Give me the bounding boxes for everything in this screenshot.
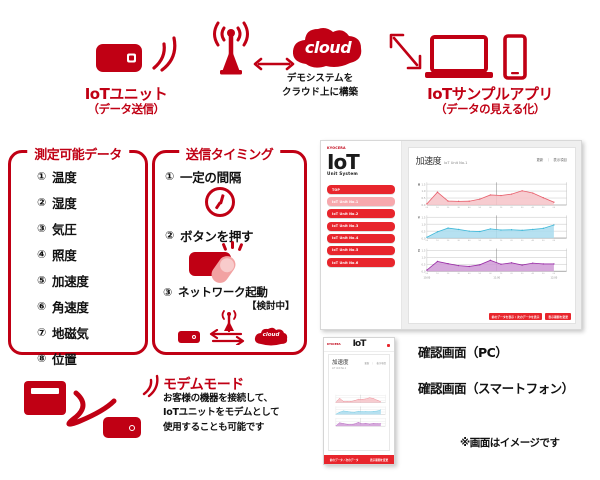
pc-app-sidebar: KYOCERA IoT Unit System TOP IoT Unit No.… — [321, 141, 402, 329]
svg-text:10:00: 10:00 — [423, 276, 430, 279]
svg-text:00: 00 — [489, 273, 492, 275]
svg-text:20: 20 — [510, 240, 513, 242]
svg-text:40: 40 — [531, 207, 534, 209]
card-action-bar: 前のデータを表示 / 次のデータを表示 表示期間を変更 — [489, 313, 571, 320]
item-number: ① — [37, 170, 46, 183]
item-number: ⑧ — [37, 352, 46, 365]
svg-text:40: 40 — [468, 240, 471, 242]
card-subtitle: IoT Unit No.1 — [444, 161, 467, 165]
exchange-arrows-icon — [207, 329, 247, 345]
nav-item-unit-2[interactable]: IoT Unit No.2 — [327, 209, 395, 218]
item-label: 角速度 — [52, 297, 89, 316]
svg-text:10: 10 — [436, 207, 439, 209]
phone-app-header: KYOCERA IoT — [324, 338, 394, 352]
list-item: ⑦地磁気 — [37, 323, 145, 342]
item-label: 加速度 — [52, 271, 89, 290]
modem-mode-description: お客様の機器を接続して、 IoTユニットをモデムとして 使用することも可能です — [163, 392, 313, 435]
svg-text:50: 50 — [542, 240, 545, 242]
phone-iot-logo: IoT — [353, 340, 366, 349]
svg-text:00: 00 — [552, 240, 555, 242]
pc-app-nav: TOP IoT Unit No.1 IoT Unit No.2 IoT Unit… — [321, 176, 401, 267]
svg-text:20: 20 — [510, 207, 513, 209]
sample-app-subtitle: （データの見える化） — [390, 103, 590, 116]
svg-text:1.5: 1.5 — [421, 215, 425, 219]
pc-app-main: 加速度 IoT Unit No.1 更新 ｜ 表示項目 0.00.51.01.5… — [402, 141, 581, 329]
svg-text:00: 00 — [425, 240, 428, 242]
svg-text:20: 20 — [446, 273, 449, 275]
modem-unit-icon — [103, 417, 141, 438]
item-number: ⑤ — [37, 274, 46, 287]
svg-text:30: 30 — [520, 240, 523, 242]
demo-system-note: デモシステムを クラウド上に構築 — [256, 72, 384, 100]
item-label: 気圧 — [52, 219, 76, 238]
svg-text:50: 50 — [478, 273, 481, 275]
phone-prev-next-button[interactable]: 前のデータ / 次のデータ — [330, 458, 359, 462]
change-period-button[interactable]: 表示期間を変更 — [545, 313, 571, 320]
svg-text:12:00: 12:00 — [550, 276, 557, 279]
svg-text:30: 30 — [520, 207, 523, 209]
item-number: ② — [165, 229, 174, 242]
svg-text:30: 30 — [457, 273, 460, 275]
item-number: ③ — [163, 286, 172, 299]
modem-waves-icon — [140, 372, 162, 398]
svg-text:00: 00 — [425, 273, 428, 275]
phone-card-subtitle: IoT Unit No.1 — [332, 367, 386, 370]
svg-text:00: 00 — [489, 207, 492, 209]
svg-text:1.0: 1.0 — [421, 222, 425, 226]
customer-device-icon — [24, 381, 66, 415]
card-title: 加速度 — [416, 154, 442, 167]
iot-unit-title: IoTユニット — [46, 86, 206, 103]
svg-text:00: 00 — [552, 207, 555, 209]
svg-text:00: 00 — [489, 240, 492, 242]
sample-app-label: IoTサンプルアプリ （データの見える化） — [390, 86, 590, 116]
svg-text:1.5: 1.5 — [421, 249, 425, 253]
measurable-data-title: 測定可能データ — [27, 144, 129, 163]
measurable-data-panel: 測定可能データ ①温度 ②湿度 ③気圧 ④照度 ⑤加速度 ⑥角速度 ⑦地磁気 ⑧… — [8, 150, 148, 355]
svg-text:10: 10 — [436, 273, 439, 275]
svg-text:40: 40 — [531, 240, 534, 242]
nav-item-top[interactable]: TOP — [327, 185, 395, 194]
transmission-timing-panel: 送信タイミング ① 一定の間隔 ② ボタンを押す ③ ネットワーク起動 【検討中… — [152, 150, 307, 355]
phone-change-period-button[interactable]: 表示期間を変更 — [370, 458, 388, 462]
svg-text:10: 10 — [499, 240, 502, 242]
diagonal-arrow-icon — [386, 30, 426, 74]
svg-text:1.0: 1.0 — [421, 255, 425, 259]
item-number: ⑥ — [37, 300, 46, 313]
list-item: ⑤加速度 — [37, 271, 145, 290]
mini-unit-icon — [178, 331, 200, 343]
image-note: ※画面はイメージです — [460, 435, 560, 450]
item-label: 湿度 — [52, 193, 76, 212]
cloud-label: cloud — [300, 38, 356, 57]
svg-text:0.5: 0.5 — [421, 196, 425, 200]
phone-acceleration-charts — [332, 371, 386, 455]
svg-text:Z: Z — [417, 249, 419, 253]
measurable-data-list: ①温度 ②湿度 ③気圧 ④照度 ⑤加速度 ⑥角速度 ⑦地磁気 ⑧位置 — [11, 153, 145, 368]
laptop-icon — [424, 34, 496, 82]
svg-text:50: 50 — [542, 273, 545, 275]
phone-kyocera-logo: KYOCERA — [327, 343, 341, 346]
timing-badge: 【検討中】 — [247, 298, 295, 312]
list-item: ④照度 — [37, 245, 145, 264]
iot-system-diagram: IoTユニット （データ送信） cloud デモシステムを クラウド上に構築 — [0, 0, 600, 480]
item-label: 位置 — [52, 349, 76, 368]
svg-text:50: 50 — [542, 207, 545, 209]
svg-text:20: 20 — [446, 207, 449, 209]
svg-text:30: 30 — [457, 207, 460, 209]
acceleration-card: 加速度 IoT Unit No.1 更新 ｜ 表示項目 0.00.51.01.5… — [408, 147, 576, 324]
svg-text:10: 10 — [499, 273, 502, 275]
button-press-icon — [189, 243, 259, 277]
antenna-tower-icon — [200, 20, 262, 82]
phone-action-bar: 前のデータ / 次のデータ 表示期間を変更 — [324, 455, 394, 464]
wifi-waves-icon — [146, 30, 180, 72]
item-number: ② — [37, 196, 46, 209]
svg-text:1.5: 1.5 — [421, 182, 425, 186]
item-number: ③ — [37, 222, 46, 235]
phone-menu-icon[interactable] — [387, 344, 390, 347]
iot-unit-device-icon — [96, 44, 142, 72]
item-label: 温度 — [52, 167, 76, 186]
svg-text:11:00: 11:00 — [493, 276, 500, 279]
caption-phone: 確認画面（スマートフォン） — [418, 378, 574, 397]
smartphone-icon — [502, 34, 528, 82]
phone-app-screenshot: KYOCERA IoT 加速度 更新 ｜ 表示項目 IoT Unit No.1 … — [323, 337, 395, 465]
svg-text:1.0: 1.0 — [421, 189, 425, 193]
list-item: ②湿度 — [37, 193, 145, 212]
list-item: ⑥角速度 — [37, 297, 145, 316]
svg-text:40: 40 — [531, 273, 534, 275]
nav-item-unit-5[interactable]: IoT Unit No.5 — [327, 246, 395, 255]
svg-text:30: 30 — [520, 273, 523, 275]
svg-text:10: 10 — [436, 240, 439, 242]
nav-item-unit-3[interactable]: IoT Unit No.3 — [327, 222, 395, 231]
prev-next-data-button[interactable]: 前のデータを表示 / 次のデータを表示 — [489, 313, 543, 320]
timing-item-1: ① 一定の間隔 — [165, 167, 241, 186]
mini-cloud-label: cloud — [253, 332, 289, 338]
svg-text:00: 00 — [425, 207, 428, 209]
phone-card-title: 加速度 — [332, 358, 349, 366]
svg-text:50: 50 — [478, 240, 481, 242]
list-item: ⑧位置 — [37, 349, 145, 368]
phone-acceleration-card: 加速度 更新 ｜ 表示項目 IoT Unit No.1 — [328, 354, 390, 451]
item-label: 照度 — [52, 245, 76, 264]
svg-text:20: 20 — [510, 273, 513, 275]
list-item: ③気圧 — [37, 219, 145, 238]
list-item: ①温度 — [37, 167, 145, 186]
item-number: ⑦ — [37, 326, 46, 339]
svg-text:40: 40 — [468, 207, 471, 209]
iot-logo: IoT — [327, 154, 395, 171]
svg-text:20: 20 — [446, 240, 449, 242]
svg-text:10: 10 — [499, 207, 502, 209]
modem-mode-title: モデムモード — [163, 374, 244, 394]
svg-text:X: X — [417, 182, 420, 186]
item-number: ④ — [37, 248, 46, 261]
svg-text:0.5: 0.5 — [421, 229, 425, 233]
svg-text:40: 40 — [468, 273, 471, 275]
nav-item-unit-1[interactable]: IoT Unit No.1 — [327, 197, 395, 206]
sample-app-title: IoTサンプルアプリ — [390, 86, 590, 103]
nav-item-unit-6[interactable]: IoT Unit No.6 — [327, 258, 395, 267]
caption-pc: 確認画面（PC） — [418, 342, 507, 361]
iot-unit-label: IoTユニット （データ送信） — [46, 86, 206, 116]
clock-icon — [205, 187, 235, 217]
acceleration-charts: 0.00.51.01.5X001020304050001020304050000… — [416, 170, 568, 298]
svg-text:50: 50 — [478, 207, 481, 209]
svg-text:0.5: 0.5 — [421, 262, 425, 266]
item-label: 地磁気 — [52, 323, 89, 342]
pc-app-screenshot: KYOCERA IoT Unit System TOP IoT Unit No.… — [320, 140, 582, 330]
item-label: 一定の間隔 — [180, 167, 241, 186]
card-tools[interactable]: 更新 ｜ 表示項目 — [536, 157, 567, 162]
phone-card-tools[interactable]: 更新 ｜ 表示項目 — [364, 361, 386, 365]
nav-item-unit-4[interactable]: IoT Unit No.4 — [327, 234, 395, 243]
svg-text:30: 30 — [457, 240, 460, 242]
iot-unit-subtitle: （データ送信） — [46, 103, 206, 116]
svg-text:Y: Y — [416, 216, 420, 220]
transmission-timing-title: 送信タイミング — [179, 144, 281, 163]
svg-text:00: 00 — [552, 273, 555, 275]
item-number: ① — [165, 170, 174, 183]
